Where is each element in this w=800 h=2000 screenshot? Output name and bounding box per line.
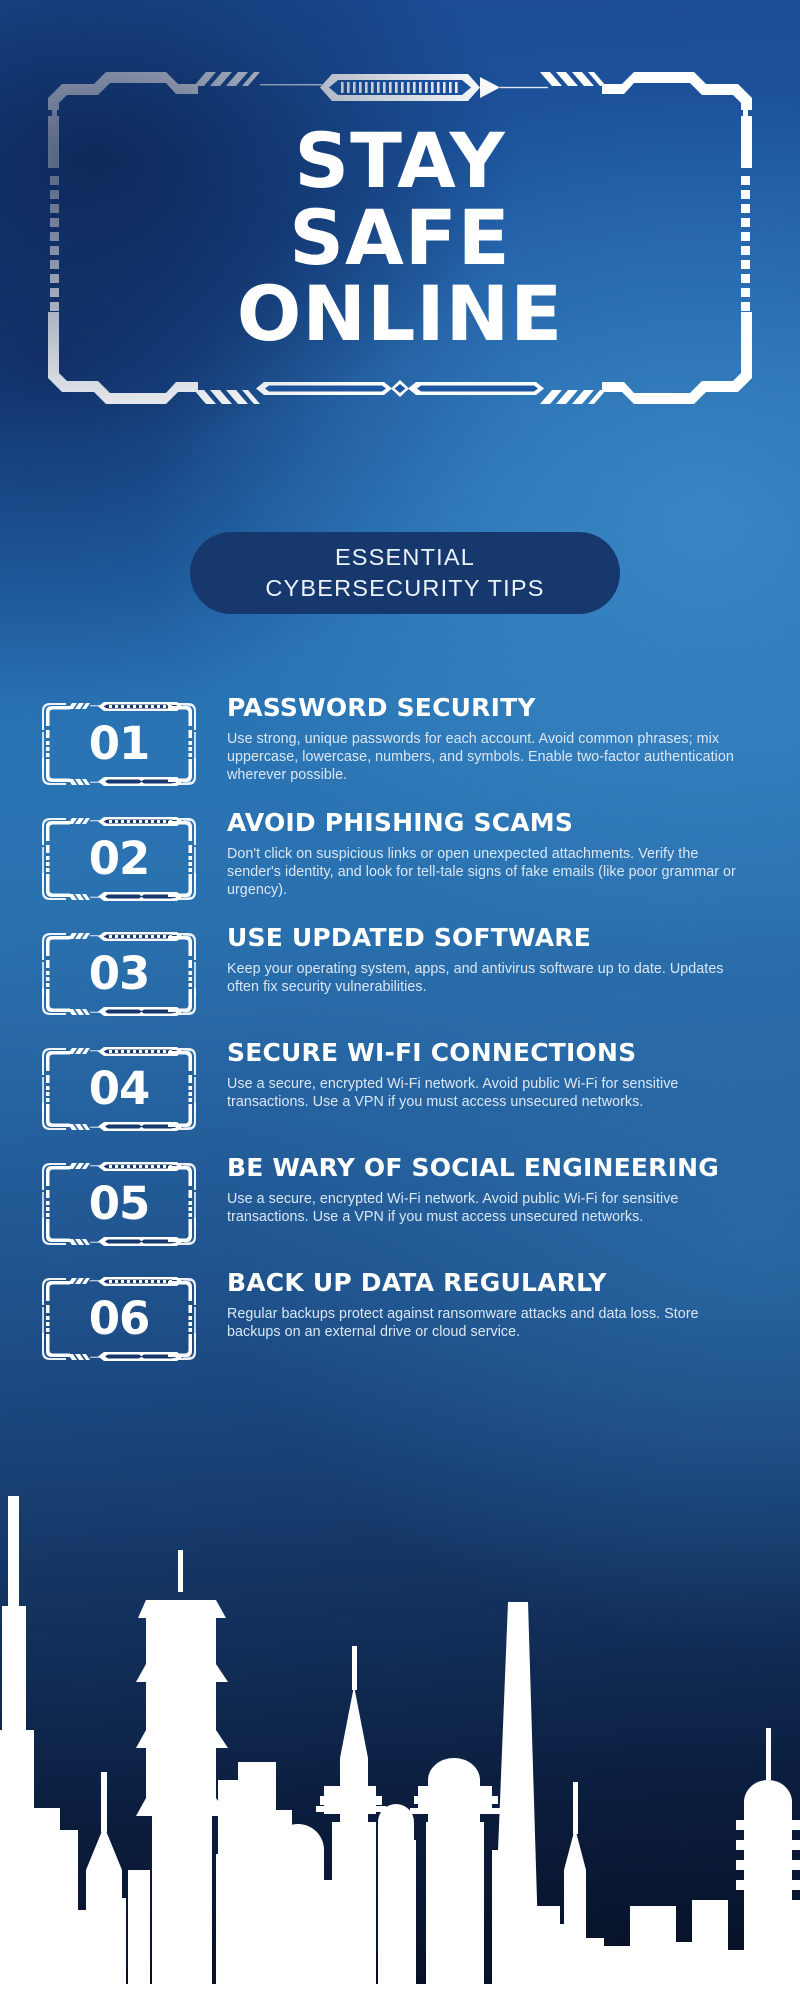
subtitle-line-2: CYBERSECURITY TIPS	[265, 573, 544, 604]
tip-number-badge: 02	[36, 815, 202, 903]
city-skyline	[0, 1310, 800, 2000]
hero-title-line-3: ONLINE	[237, 277, 563, 351]
tip-item: 01 PASSWORD SECURITY Use strong, unique …	[0, 686, 800, 788]
tip-item: 04 SECURE WI-FI CONNECTIONS Use a secure…	[0, 1031, 800, 1133]
tip-title: AVOID PHISHING SCAMS	[227, 809, 756, 838]
tip-title: BACK UP DATA REGULARLY	[227, 1269, 756, 1298]
tip-description: Keep your operating system, apps, and an…	[227, 960, 756, 997]
tip-body: BE WARY OF SOCIAL ENGINEERING Use a secu…	[202, 1146, 800, 1226]
tip-title: PASSWORD SECURITY	[227, 694, 756, 723]
subtitle-text: ESSENTIAL CYBERSECURITY TIPS	[265, 542, 544, 604]
tip-item: 03 USE UPDATED SOFTWARE Keep your operat…	[0, 916, 800, 1018]
infographic-poster: STAY SAFE ONLINE ESSENTIAL CYBERSECURITY…	[0, 0, 800, 2000]
hero-title-line-2: SAFE	[289, 201, 510, 275]
tip-body: PASSWORD SECURITY Use strong, unique pas…	[202, 686, 800, 784]
tip-number: 05	[36, 1160, 202, 1248]
tip-body: USE UPDATED SOFTWARE Keep your operating…	[202, 916, 800, 996]
subtitle-pill: ESSENTIAL CYBERSECURITY TIPS	[190, 532, 620, 614]
tip-number: 02	[36, 815, 202, 903]
tip-number-badge: 01	[36, 700, 202, 788]
tip-number: 06	[36, 1275, 202, 1363]
tip-number: 03	[36, 930, 202, 1018]
tip-description: Use a secure, encrypted Wi-Fi network. A…	[227, 1190, 756, 1227]
tip-number-badge: 04	[36, 1045, 202, 1133]
tip-description: Don't click on suspicious links or open …	[227, 845, 756, 900]
tip-number: 04	[36, 1045, 202, 1133]
tip-number-badge: 06	[36, 1275, 202, 1363]
tip-number: 01	[36, 700, 202, 788]
tip-item: 05 BE WARY OF SOCIAL ENGINEERING Use a s…	[0, 1146, 800, 1248]
hero-frame: STAY SAFE ONLINE	[48, 72, 752, 404]
hero-title-line-1: STAY	[294, 124, 505, 198]
tip-body: AVOID PHISHING SCAMS Don't click on susp…	[202, 801, 800, 899]
tip-number-badge: 05	[36, 1160, 202, 1248]
city-skyline-icon	[0, 1310, 800, 2000]
tip-item: 02 AVOID PHISHING SCAMS Don't click on s…	[0, 801, 800, 903]
tip-body: SECURE WI-FI CONNECTIONS Use a secure, e…	[202, 1031, 800, 1111]
tip-description: Use strong, unique passwords for each ac…	[227, 730, 756, 785]
tips-list: 01 PASSWORD SECURITY Use strong, unique …	[0, 686, 800, 1376]
tip-number-badge: 03	[36, 930, 202, 1018]
subtitle-line-1: ESSENTIAL	[265, 542, 544, 573]
hero-title: STAY SAFE ONLINE	[48, 72, 752, 404]
tip-title: USE UPDATED SOFTWARE	[227, 924, 756, 953]
tip-description: Use a secure, encrypted Wi-Fi network. A…	[227, 1075, 756, 1112]
tip-title: BE WARY OF SOCIAL ENGINEERING	[227, 1154, 756, 1183]
tip-title: SECURE WI-FI CONNECTIONS	[227, 1039, 756, 1068]
